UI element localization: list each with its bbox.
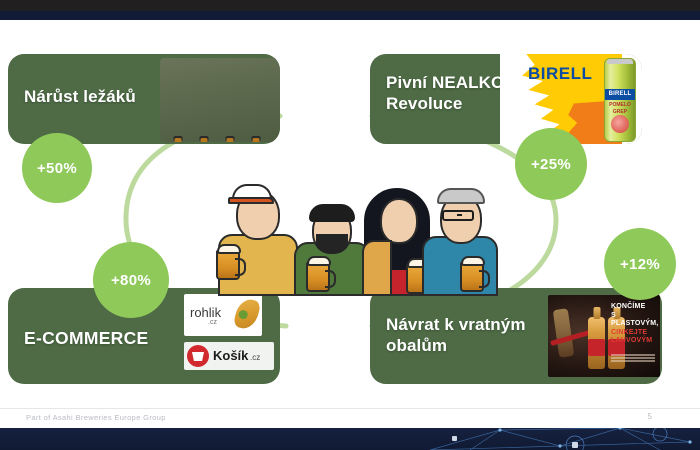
panel-navrat-k-vratnym-obalum[interactable]: Návrat k vratným obalům KONČÍME S PLASTO… — [370, 288, 662, 384]
person-2-hair — [309, 204, 355, 222]
ad-headline-line-3: CINKEJTE — [611, 329, 657, 338]
rohlik-suffix: .cz — [208, 319, 217, 326]
ad-fineprint — [611, 354, 655, 363]
person-4-hair — [437, 188, 485, 204]
panel-label-line-1: Pivní NEALKO — [386, 73, 504, 92]
kosik-logo: Košík .cz — [184, 342, 274, 370]
can-flavor-text: POMELO GREP — [605, 102, 635, 116]
panel-label-line-1: Návrat k vratným — [386, 315, 526, 334]
badge-navrat-k-vratnym-obalum[interactable]: +12% — [604, 228, 676, 300]
badge-e-commerce[interactable]: +80% — [93, 242, 169, 318]
page-number: 5 — [648, 412, 652, 421]
network-lines-graphic — [0, 428, 700, 450]
panel-label-line-2: obalům — [386, 336, 447, 355]
beer-mug-1 — [216, 250, 240, 280]
footer-attribution: Part of Asahi Breweries Europe Group — [26, 413, 166, 422]
can-brand-text: BIRELL — [605, 89, 635, 100]
panel-label-line-2: Revoluce — [386, 94, 462, 113]
bottom-navy-network-graphic — [0, 428, 700, 450]
kosik-wordmark: Košík — [213, 348, 248, 363]
top-navy-bar — [0, 11, 700, 20]
panel-label-navrat-k-vratnym-obalum: Návrat k vratným obalům — [386, 314, 571, 356]
ad-headline-line-1: KONČÍME — [611, 303, 657, 312]
grapefruit-icon — [611, 115, 629, 133]
plastic-bottle — [553, 308, 575, 358]
shopping-cart-icon — [187, 345, 209, 367]
eyeglasses-icon — [442, 210, 474, 221]
beer-mug-4 — [460, 262, 484, 292]
person-4 — [420, 172, 500, 296]
beer-mug-2 — [306, 262, 330, 292]
slide-footer: Part of Asahi Breweries Europe Group 5 — [0, 408, 700, 429]
panel-label-e-commerce: E-COMMERCE — [24, 328, 149, 349]
person-1 — [214, 170, 300, 296]
gambrinus-returnable-bottles-ad: KONČÍME S PLASTOVÝM, CINKEJTE LAHVOVÝM — [548, 295, 660, 377]
person-3-sari — [362, 240, 392, 296]
ad-headline-line-2: S PLASTOVÝM, — [611, 312, 657, 329]
can-brand-band: BIRELL — [605, 89, 635, 100]
croissant-icon — [233, 297, 262, 331]
person-3-head — [380, 198, 418, 244]
rohlik-wordmark: rohlik — [190, 305, 221, 320]
birell-ad-image: BIRELL BIRELL POMELO GREP — [500, 54, 642, 144]
panel-label-pivni-nealko-revoluce: Pivní NEALKO Revoluce — [386, 72, 504, 114]
birell-can: BIRELL POMELO GREP — [604, 58, 636, 142]
presentation-slide: Nárůst ležáků — [0, 0, 700, 450]
ecommerce-logos: rohlik .cz Košík .cz — [180, 294, 276, 378]
slide-canvas: Nárůst ležáků — [0, 20, 700, 408]
can-lid — [607, 59, 633, 64]
ad-headline: KONČÍME S PLASTOVÝM, CINKEJTE LAHVOVÝM — [611, 303, 657, 346]
person-2-beard — [316, 234, 348, 254]
badge-narust-lezaku[interactable]: +50% — [22, 133, 92, 203]
birell-wordmark: BIRELL — [528, 64, 592, 84]
top-black-bar — [0, 0, 700, 11]
rohlik-logo: rohlik .cz — [184, 294, 262, 336]
panel-label-narust-lezaku: Nárůst ležáků — [24, 86, 136, 107]
glass-bottle-1 — [588, 317, 605, 369]
badge-pivni-nealko-revoluce[interactable]: +25% — [515, 128, 587, 200]
four-people-with-beer-mugs-illustration — [208, 168, 492, 296]
panel-pivni-nealko-revoluce[interactable]: Pivní NEALKO Revoluce BIRELL BIRELL POME… — [370, 54, 642, 144]
beer-bottles-photo — [160, 58, 280, 142]
kosik-suffix: .cz — [250, 353, 260, 362]
panel-narust-lezaku[interactable]: Nárůst ležáků — [8, 54, 280, 144]
ad-headline-line-4: LAHVOVÝM — [611, 337, 657, 346]
